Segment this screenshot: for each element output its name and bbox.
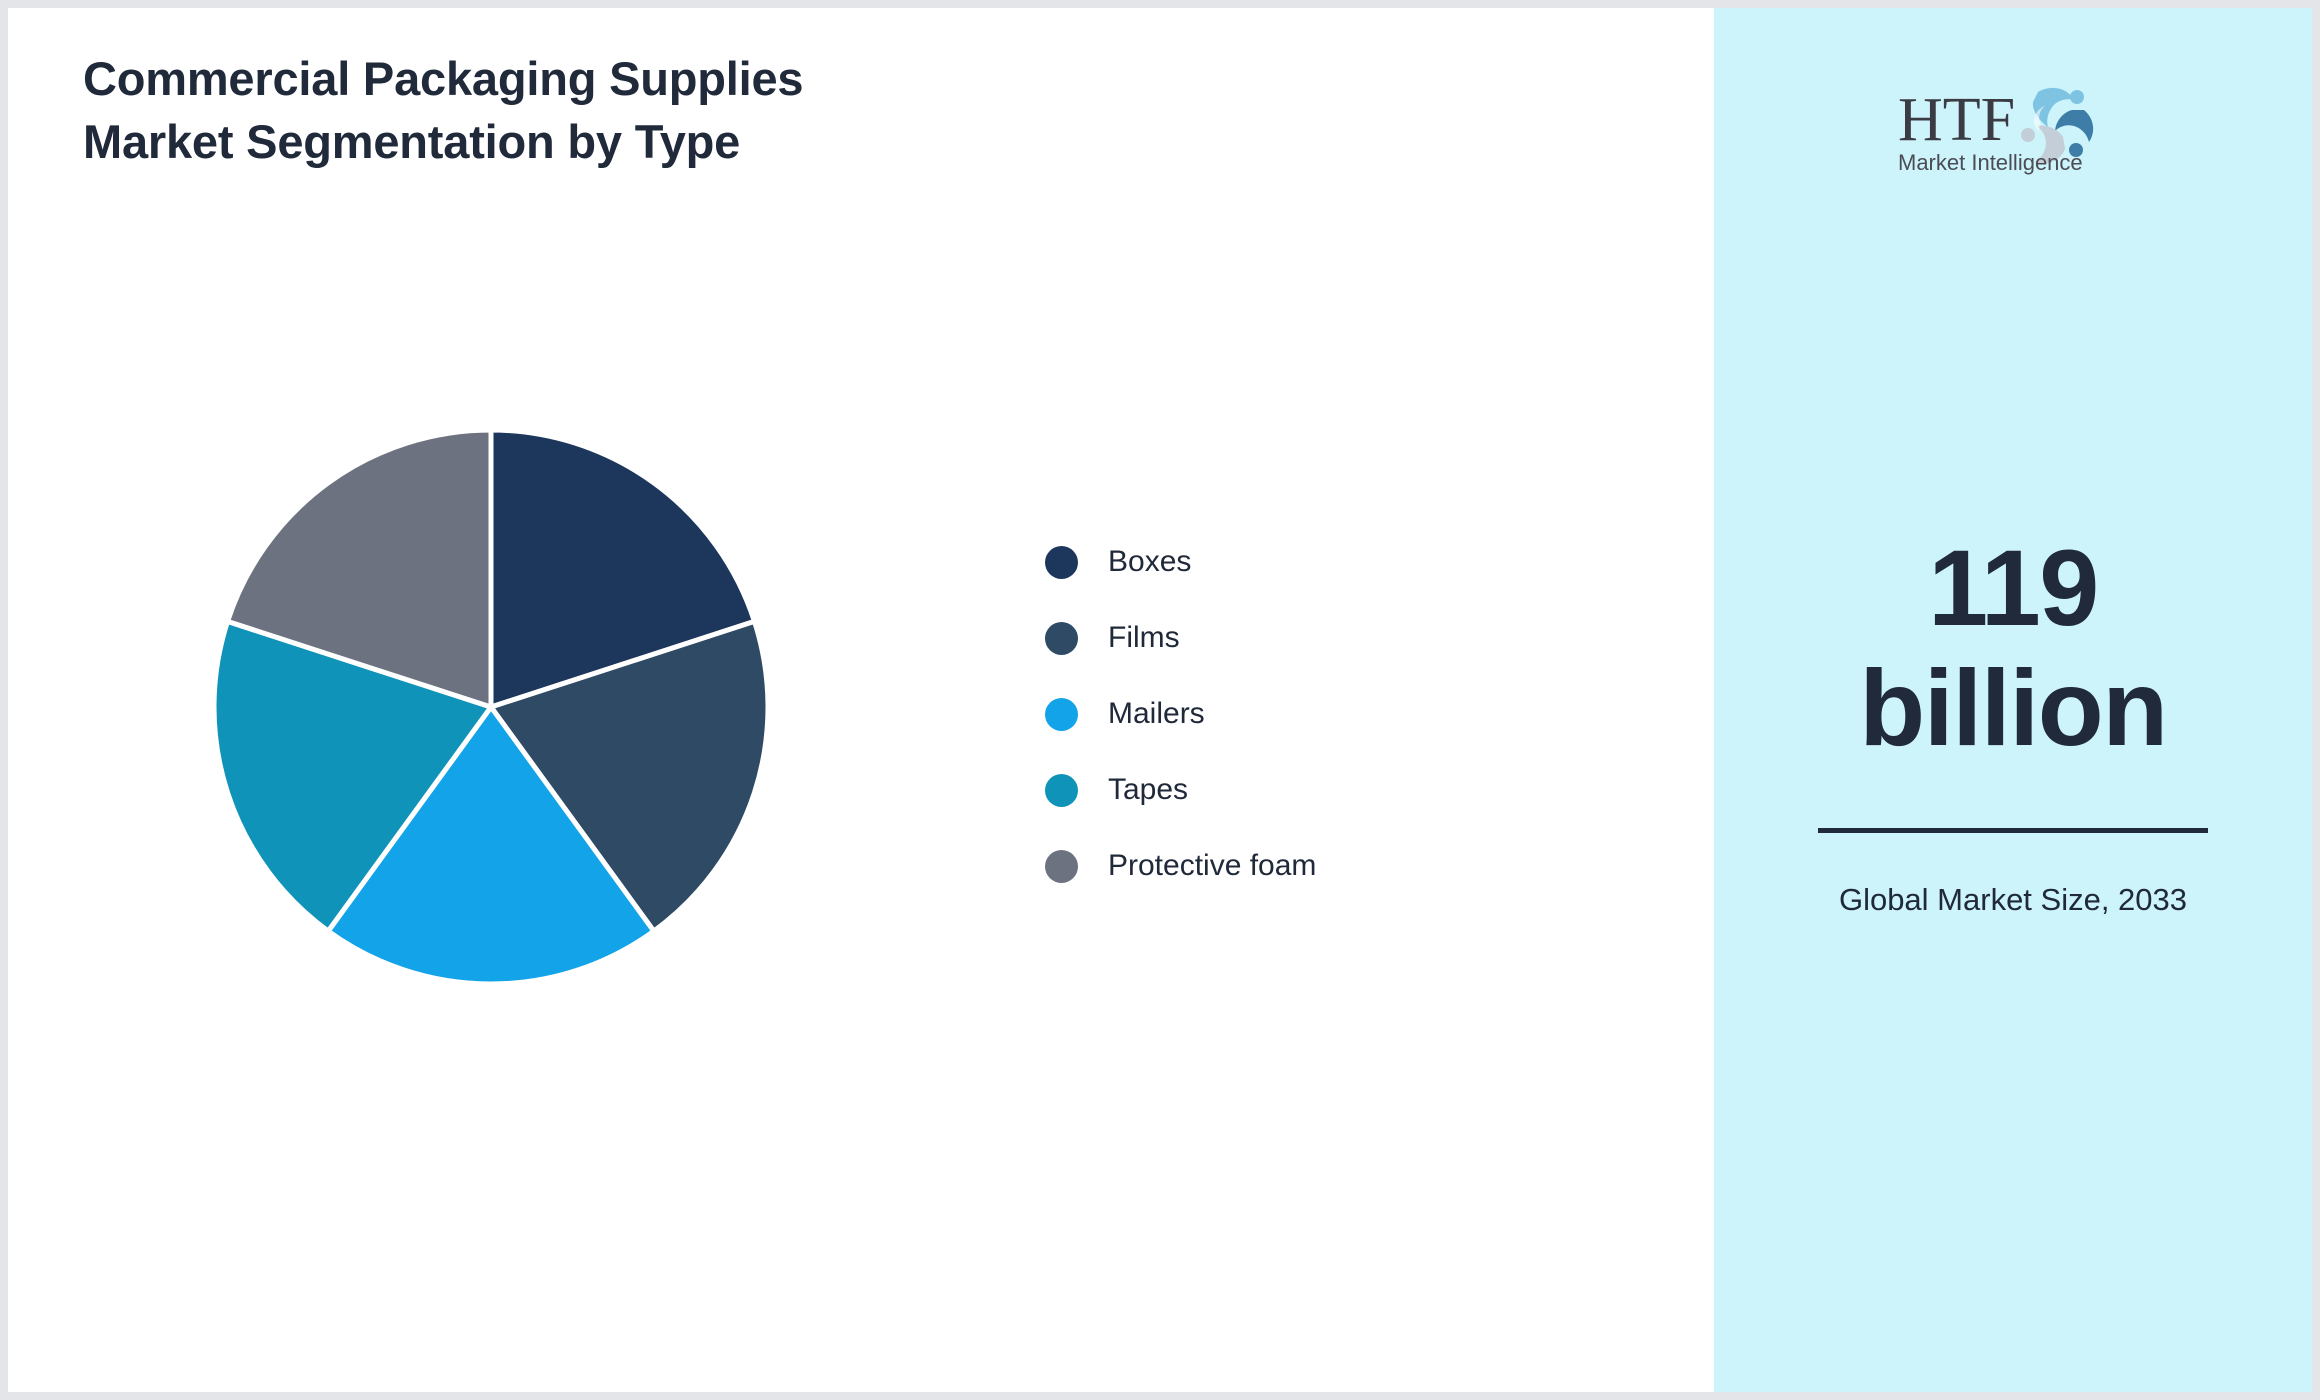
htf-market-intelligence-logo: HTF Market Intelligence	[1888, 70, 2138, 180]
legend-item-boxes[interactable]: Boxes	[1045, 524, 1465, 600]
legend-swatch-icon	[1045, 546, 1078, 579]
chart-legend: Boxes Films Mailers Tapes Protective foa…	[1045, 524, 1465, 904]
logo-wordmark: HTF	[1898, 86, 2015, 154]
stat-value: 119 billion	[1714, 528, 2312, 768]
stat-caption: Global Market Size, 2033	[1714, 879, 2312, 921]
logo-svg: HTF Market Intelligence	[1888, 70, 2138, 180]
legend-item-protective-foam[interactable]: Protective foam	[1045, 828, 1465, 904]
chart-panel: Commercial Packaging Supplies Market Seg…	[8, 8, 1714, 1392]
pie-slices	[214, 430, 768, 984]
stat-panel: HTF Market Intelligence 119 billion Glob…	[1714, 8, 2312, 1392]
legend-item-mailers[interactable]: Mailers	[1045, 676, 1465, 752]
stat-block: 119 billion Global Market Size, 2033	[1714, 528, 2312, 921]
legend-label: Protective foam	[1108, 851, 1316, 881]
legend-label: Tapes	[1108, 775, 1188, 805]
infographic-card: Commercial Packaging Supplies Market Seg…	[8, 8, 2312, 1392]
pie-chart	[206, 422, 776, 992]
legend-item-films[interactable]: Films	[1045, 600, 1465, 676]
legend-label: Mailers	[1108, 699, 1205, 729]
legend-swatch-icon	[1045, 698, 1078, 731]
legend-swatch-icon	[1045, 622, 1078, 655]
legend-item-tapes[interactable]: Tapes	[1045, 752, 1465, 828]
divider	[1818, 828, 2208, 833]
legend-swatch-icon	[1045, 774, 1078, 807]
page-title: Commercial Packaging Supplies Market Seg…	[83, 48, 1183, 173]
pie-chart-svg	[206, 422, 776, 992]
legend-label: Boxes	[1108, 547, 1191, 577]
legend-swatch-icon	[1045, 850, 1078, 883]
logo-tagline: Market Intelligence	[1898, 150, 2083, 175]
legend-label: Films	[1108, 623, 1180, 653]
